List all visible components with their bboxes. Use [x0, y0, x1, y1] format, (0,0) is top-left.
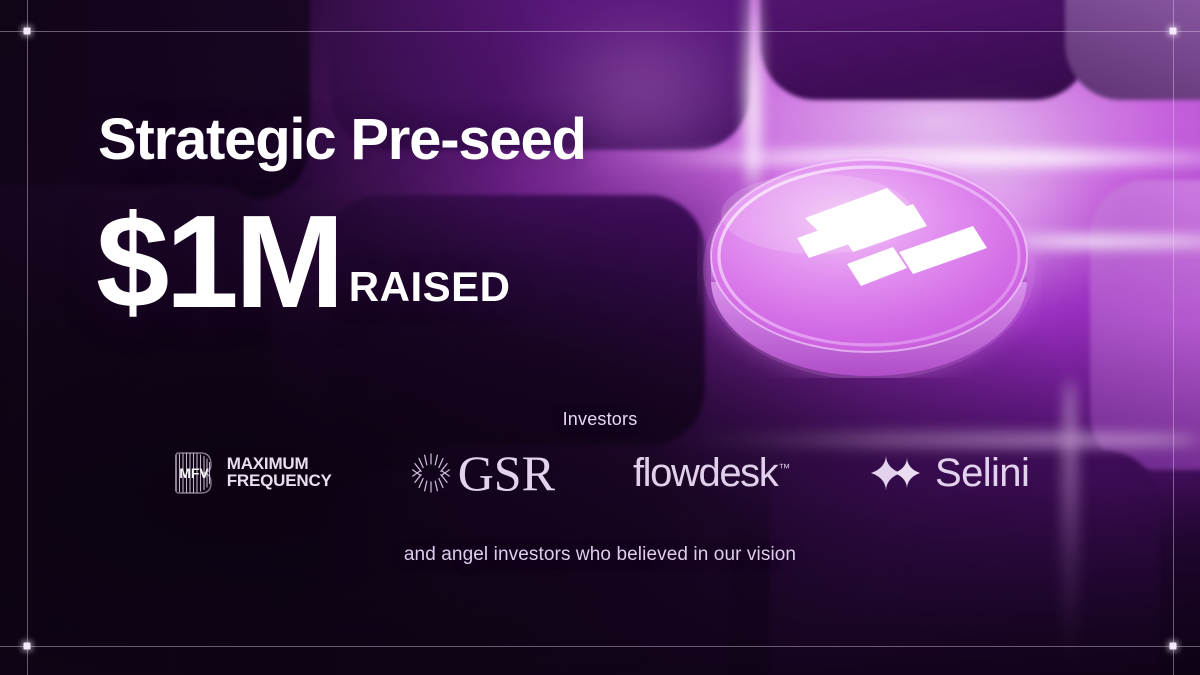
flowdesk-wordmark-text: flowdesk — [633, 451, 777, 495]
brand-token-coin — [697, 152, 1041, 378]
trademark-symbol: ™ — [778, 461, 789, 475]
gsr-wordmark: GSR — [458, 448, 555, 498]
investor-logo-selini[interactable]: Selini — [867, 453, 1029, 493]
investor-logo-flowdesk[interactable]: flowdesk™ — [633, 453, 789, 493]
investors-label: Investors — [0, 409, 1200, 430]
mfv-monogram-icon: MFV — [171, 449, 217, 497]
investor-logo-maximum-frequency[interactable]: MFV MAXIMUM FREQUENCY — [171, 449, 332, 497]
amount-suffix-label: RAISED — [349, 266, 511, 308]
amount-raised: $1M — [96, 204, 341, 320]
announcement-graphic: Strategic Pre-seed $1M RAISED — [0, 0, 1200, 675]
svg-text:MFV: MFV — [179, 465, 209, 481]
tagline: and angel investors who believed in our … — [0, 544, 1200, 566]
mfv-wordmark: MAXIMUM FREQUENCY — [227, 456, 332, 489]
investor-logo-row: MFV MAXIMUM FREQUENCY — [0, 448, 1200, 498]
gsr-starburst-icon — [410, 452, 452, 494]
mfv-wordmark-line2: FREQUENCY — [227, 473, 332, 490]
selini-wordmark: Selini — [935, 453, 1029, 493]
amount-row: $1M RAISED — [96, 204, 510, 320]
content-layer: Strategic Pre-seed $1M RAISED — [0, 0, 1200, 675]
selini-sparkle-icon — [867, 453, 925, 493]
headline: Strategic Pre-seed — [98, 111, 586, 169]
flowdesk-wordmark: flowdesk™ — [633, 453, 789, 493]
investor-logo-gsr[interactable]: GSR — [410, 448, 555, 498]
